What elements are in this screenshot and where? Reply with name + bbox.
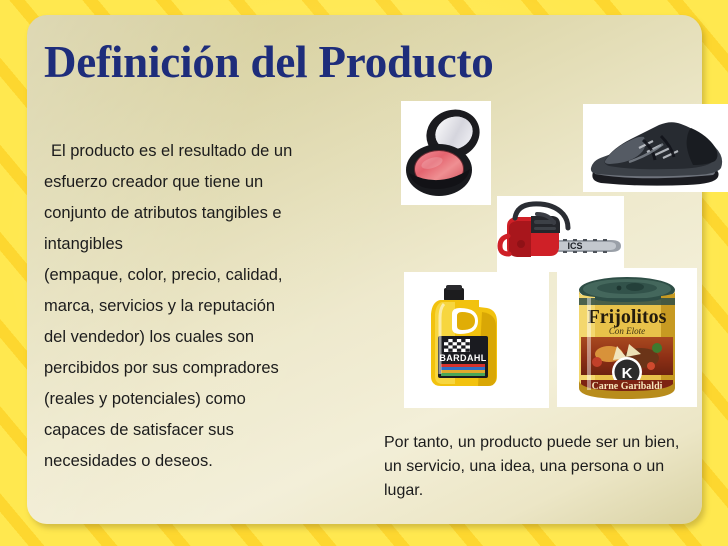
body-line: esfuerzo creador que tiene un	[44, 167, 384, 198]
image-motor-oil-jug: BARDAHL	[404, 272, 549, 408]
body-line: conjunto de atributos tangibles e	[44, 198, 384, 229]
image-chainsaw: ICS	[497, 196, 624, 272]
image-canned-beans: Frijolitos Con Elote K	[557, 268, 697, 407]
svg-text:Frijolitos: Frijolitos	[588, 306, 667, 328]
body-line: intangibles	[44, 229, 384, 260]
body-line: (reales y potenciales) como	[44, 384, 384, 415]
body-line: El producto es el resultado de un	[44, 136, 384, 167]
body-line: del vendedor) los cuales son	[44, 322, 384, 353]
svg-text:BARDAHL: BARDAHL	[439, 353, 486, 363]
conclusion-text: Por tanto, un producto puede ser un bien…	[384, 431, 700, 503]
body-line: capaces de satisfacer sus	[44, 415, 384, 446]
body-line: necesidades o deseos.	[44, 446, 384, 477]
image-athletic-sneaker	[583, 104, 728, 192]
body-line: percibidos por sus compradores	[44, 353, 384, 384]
page-title: Definición del Producto	[44, 36, 684, 88]
svg-text:ICS: ICS	[567, 241, 582, 251]
body-line: marca, servicios y la reputación	[44, 291, 384, 322]
product-definition-paragraph: El producto es el resultado de un esfuer…	[44, 136, 384, 477]
body-line: (empaque, color, precio, calidad,	[44, 260, 384, 291]
slide-canvas: Definición del Producto El producto es e…	[0, 0, 728, 546]
svg-text:Con Elote: Con Elote	[609, 326, 645, 336]
svg-text:K: K	[622, 365, 633, 382]
image-makeup-blush-compact	[401, 101, 491, 205]
